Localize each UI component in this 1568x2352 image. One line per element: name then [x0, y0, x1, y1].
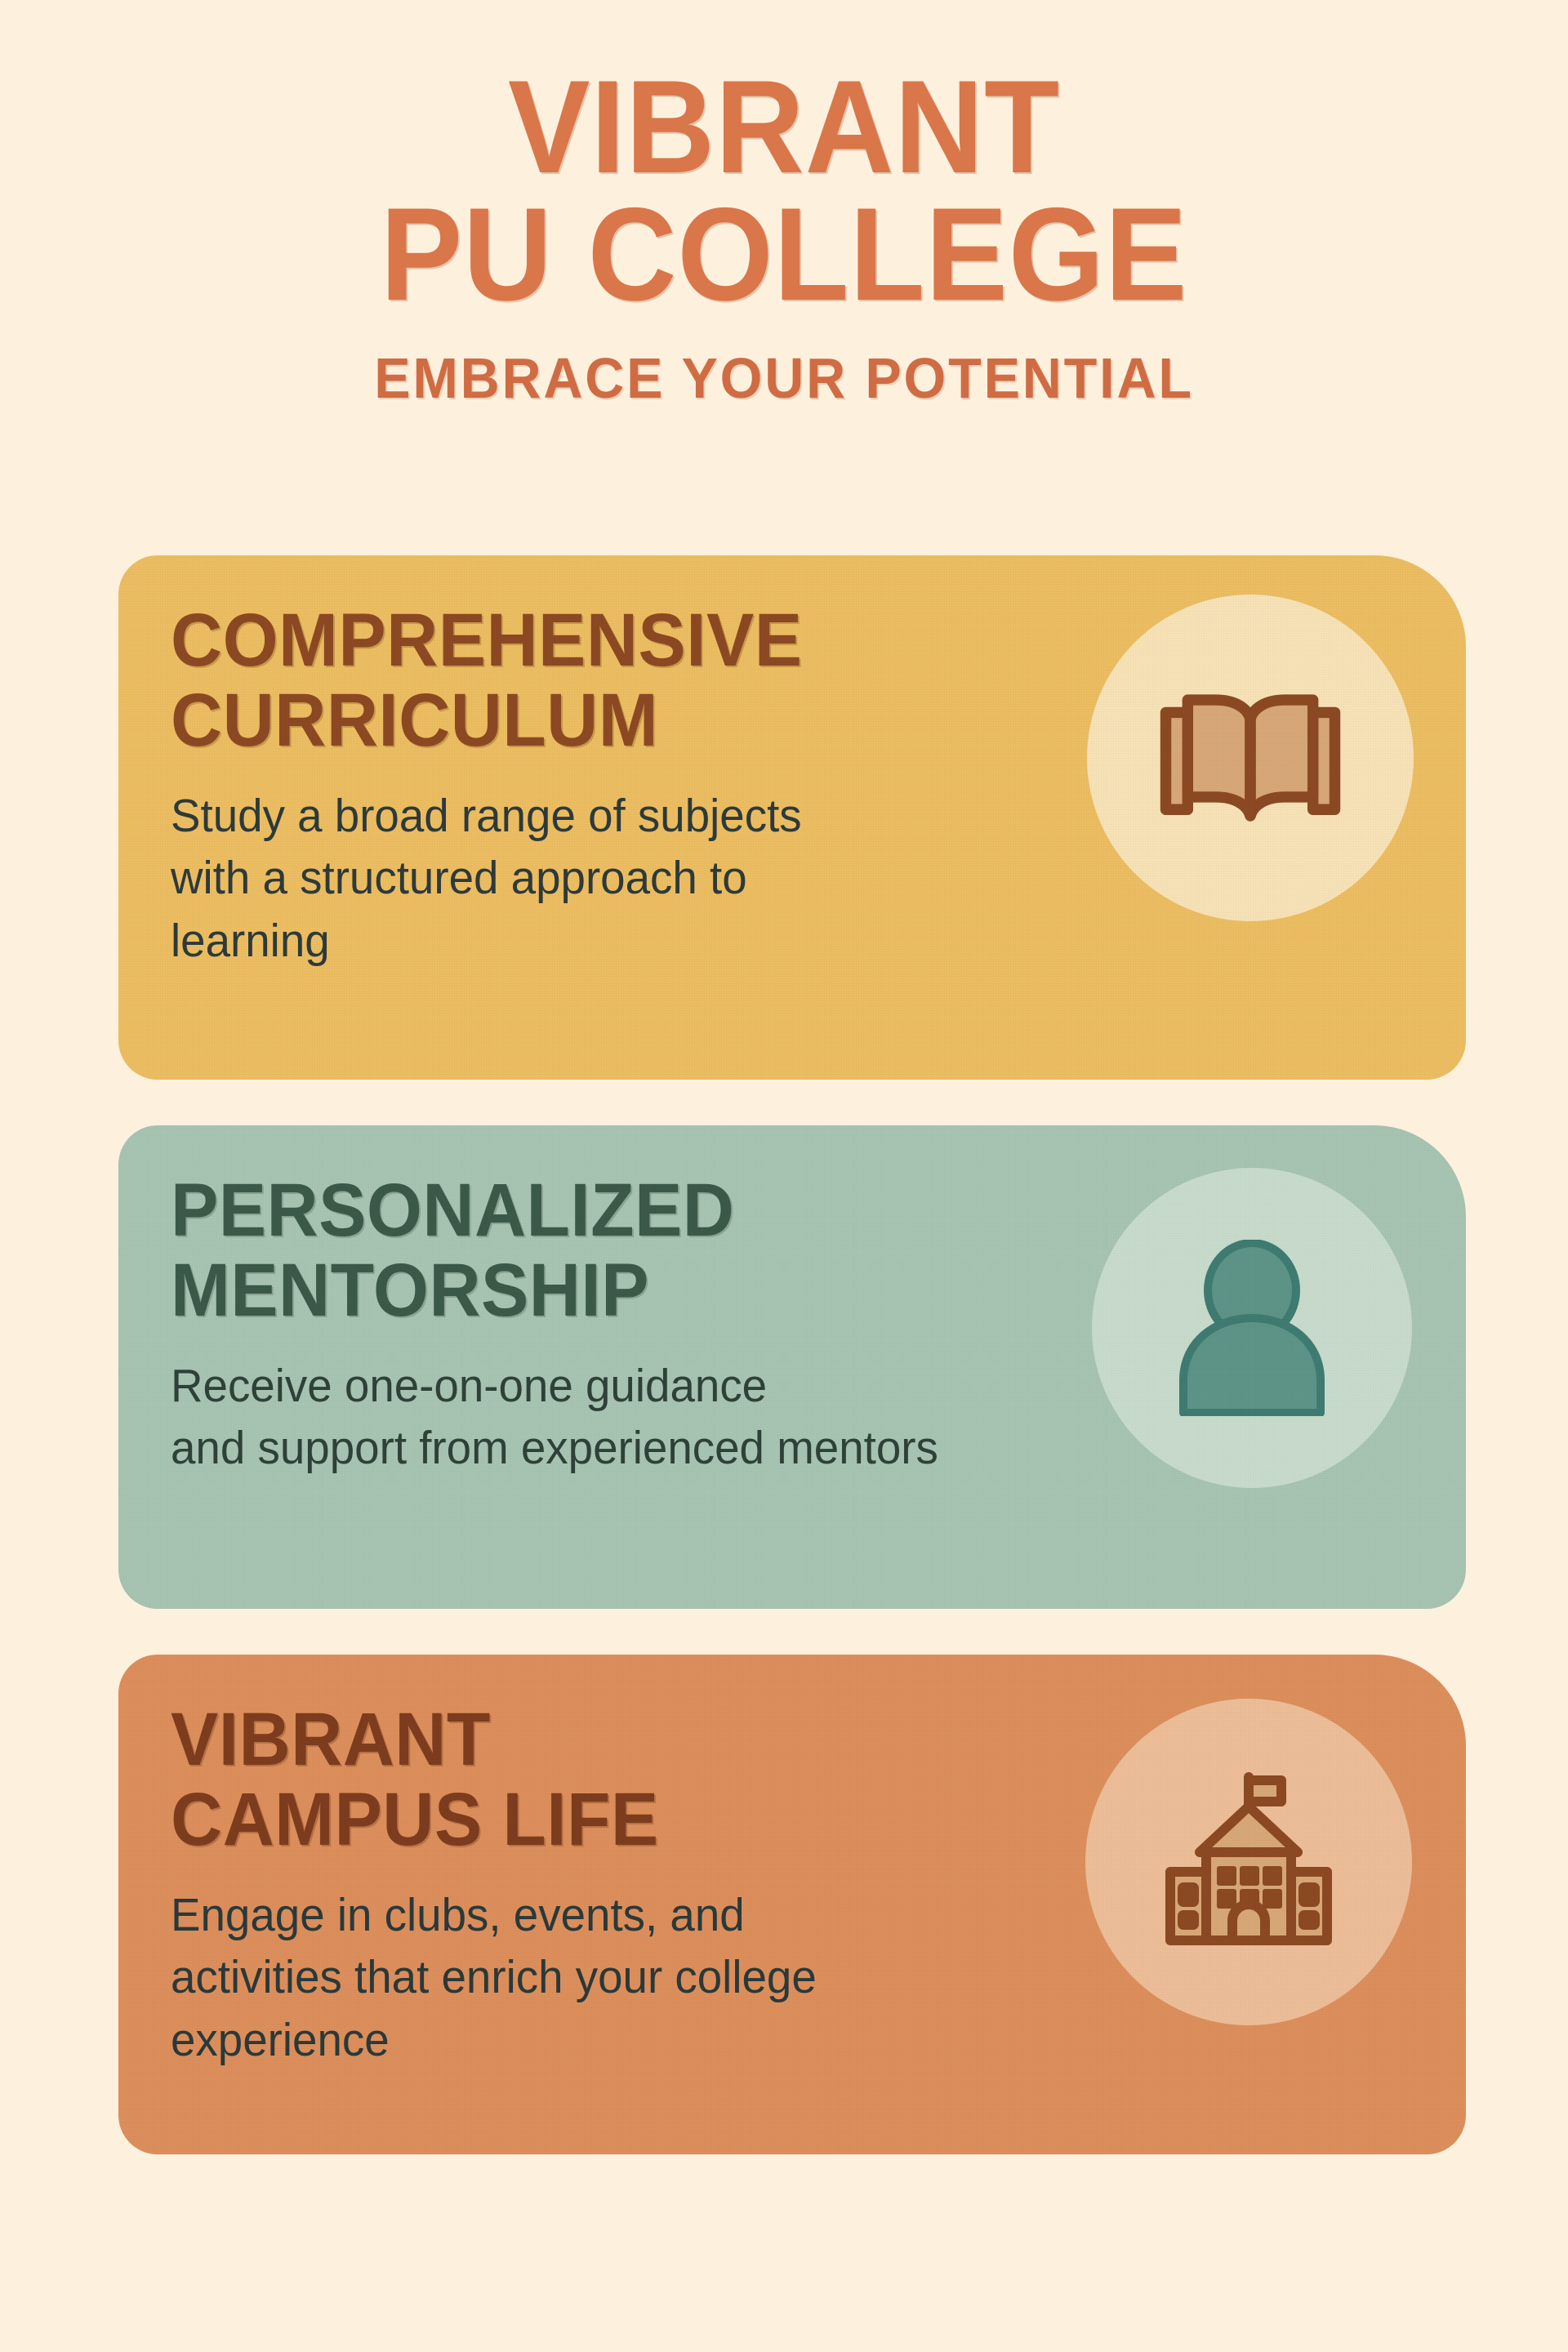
card-text-block: COMPREHENSIVE CURRICULUM Study a broad r… [171, 601, 987, 972]
poster-header: VIBRANT PU COLLEGE EMBRACE YOUR POTENTIA… [0, 0, 1568, 411]
campus-building-icon [1154, 1767, 1343, 1957]
poster-canvas: VIBRANT PU COLLEGE EMBRACE YOUR POTENTIA… [0, 0, 1568, 2352]
poster-title: VIBRANT PU COLLEGE [0, 64, 1568, 318]
feature-card-personalized-mentorship[interactable]: PERSONALIZED MENTORSHIP Receive one-on-o… [118, 1125, 1466, 1609]
icon-medallion [1087, 595, 1414, 921]
poster-subtitle: EMBRACE YOUR POTENTIAL [39, 345, 1529, 411]
card-description: Receive one-on-one guidance and support … [171, 1355, 955, 1480]
feature-card-list: COMPREHENSIVE CURRICULUM Study a broad r… [118, 555, 1466, 2200]
icon-medallion [1092, 1168, 1412, 1488]
feature-card-comprehensive-curriculum[interactable]: COMPREHENSIVE CURRICULUM Study a broad r… [118, 555, 1466, 1080]
card-heading: COMPREHENSIVE CURRICULUM [171, 601, 947, 760]
card-text-block: PERSONALIZED MENTORSHIP Receive one-on-o… [171, 1171, 987, 1480]
icon-medallion [1085, 1699, 1412, 2025]
title-line-1: VIBRANT [55, 64, 1513, 191]
title-line-2: PU COLLEGE [55, 191, 1513, 318]
card-heading: PERSONALIZED MENTORSHIP [171, 1171, 947, 1330]
person-icon [1172, 1240, 1332, 1416]
card-heading: VIBRANT CAMPUS LIFE [171, 1700, 947, 1860]
card-text-block: VIBRANT CAMPUS LIFE Engage in clubs, eve… [171, 1700, 987, 2071]
open-book-icon [1156, 678, 1344, 838]
feature-card-vibrant-campus-life[interactable]: VIBRANT CAMPUS LIFE Engage in clubs, eve… [118, 1655, 1466, 2154]
card-description: Engage in clubs, events, and activities … [171, 1884, 955, 2071]
card-description: Study a broad range of subjects with a s… [171, 785, 955, 972]
